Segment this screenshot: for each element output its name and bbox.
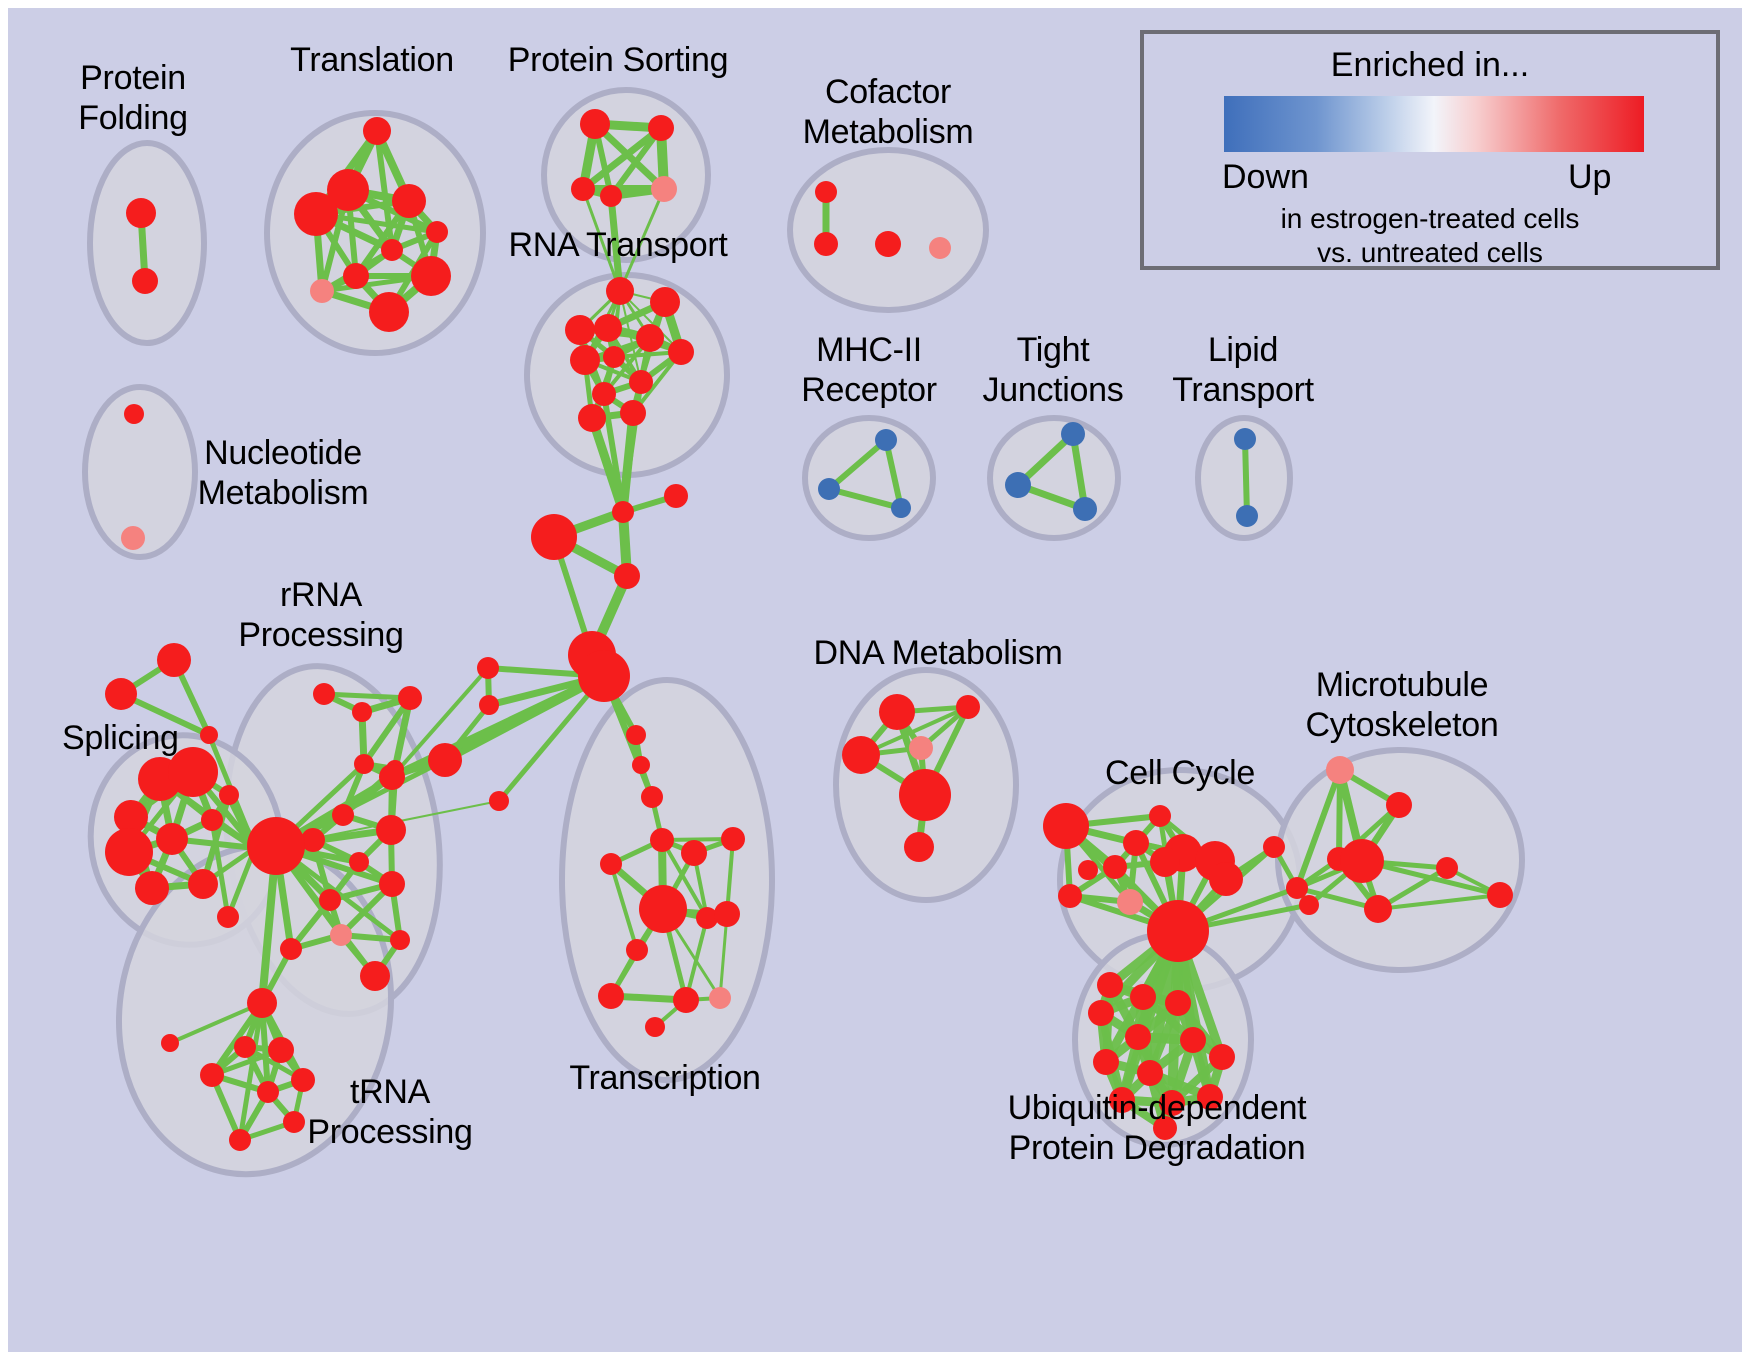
legend-color-gradient — [1224, 96, 1644, 152]
cluster-label-protein-sorting: Protein Sorting — [508, 40, 728, 80]
legend-subtitle-line2: vs. untreated cells — [1144, 236, 1716, 270]
cluster-label-mhc-ii-receptor: MHC-II Receptor — [801, 330, 937, 410]
cluster-label-nucleotide-metabolism: Nucleotide Metabolism — [198, 433, 369, 513]
cluster-label-ubiquitin-protein-degradation: Ubiquitin-dependent Protein Degradation — [1008, 1088, 1307, 1168]
legend-subtitle: in estrogen-treated cells vs. untreated … — [1144, 202, 1716, 270]
cluster-label-rrna-processing: rRNA Processing — [238, 575, 403, 655]
cluster-label-transcription: Transcription — [569, 1058, 760, 1098]
cluster-label-microtubule-cytoskeleton: Microtubule Cytoskeleton — [1306, 665, 1499, 745]
hull-transcription — [562, 680, 772, 1080]
cluster-label-dna-metabolism: DNA Metabolism — [814, 633, 1063, 673]
legend-subtitle-line1: in estrogen-treated cells — [1144, 202, 1716, 236]
cluster-label-tight-junctions: Tight Junctions — [983, 330, 1124, 410]
cluster-label-cofactor-metabolism: Cofactor Metabolism — [803, 72, 974, 152]
cluster-label-cell-cycle: Cell Cycle — [1105, 753, 1255, 793]
cluster-label-rna-transport: RNA Transport — [508, 225, 727, 265]
cluster-label-trna-processing: tRNA Processing — [307, 1072, 472, 1152]
legend-low-label: Down — [1222, 158, 1309, 197]
cluster-label-splicing: Splicing — [62, 718, 179, 758]
hull-microtubule — [1278, 750, 1522, 970]
cluster-label-translation: Translation — [290, 40, 454, 80]
legend-high-label: Up — [1568, 158, 1611, 197]
cluster-label-protein-folding: Protein Folding — [78, 58, 187, 138]
legend-title: Enriched in... — [1144, 46, 1716, 85]
hull-cofactor-metabolism — [790, 150, 986, 310]
legend-panel: Enriched in... Down Up in estrogen-treat… — [1140, 30, 1720, 270]
cluster-label-lipid-transport: Lipid Transport — [1172, 330, 1314, 410]
hull-mhc-ii — [805, 418, 933, 538]
hull-protein-folding — [90, 143, 204, 343]
figure-canvas: Protein Folding Translation Protein Sort… — [0, 0, 1750, 1360]
